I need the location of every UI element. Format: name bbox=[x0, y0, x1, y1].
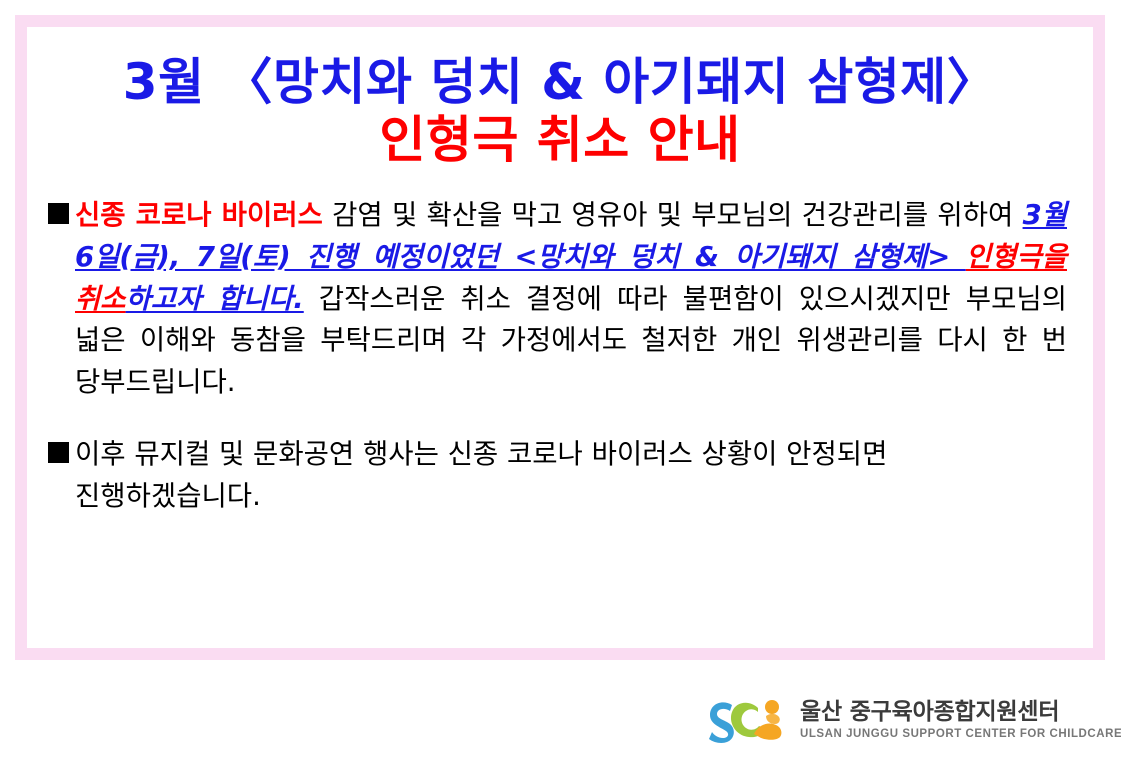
page-title: 3월 〈망치와 덩치 & 아기돼지 삼형제〉 인형극 취소 안내 bbox=[27, 27, 1093, 169]
logo-english-name: ULSAN JUNGGU SUPPORT CENTER FOR CHILDCAR… bbox=[800, 728, 1121, 740]
run-cancel-closing: 하고자 합니다. bbox=[126, 283, 304, 315]
announcement-paragraph-2: 이후 뮤지컬 및 문화공연 행사는 신종 코로나 바이러스 상황이 안정되면 진… bbox=[41, 434, 1067, 518]
poster-frame: 3월 〈망치와 덩치 & 아기돼지 삼형제〉 인형극 취소 안내 신종 코로나 … bbox=[15, 15, 1105, 660]
run-reason: 감염 및 확산을 막고 영유아 및 부모님의 건강관리를 위하여 bbox=[323, 199, 1023, 231]
logo-figure-shoulder bbox=[766, 714, 780, 724]
logo-figure-body bbox=[754, 723, 781, 739]
logo-s-shape bbox=[709, 702, 734, 743]
title-line-secondary: 인형극 취소 안내 bbox=[27, 111, 1093, 169]
logo-figure-head bbox=[765, 700, 779, 714]
announcement-paragraph-1: 신종 코로나 바이러스 감염 및 확산을 막고 영유아 및 부모님의 건강관리를… bbox=[41, 195, 1067, 404]
announcement-body: 신종 코로나 바이러스 감염 및 확산을 막고 영유아 및 부모님의 건강관리를… bbox=[27, 169, 1093, 518]
run-cancel-cause: 신종 코로나 바이러스 bbox=[75, 199, 323, 231]
paragraph-2-text: 이후 뮤지컬 및 문화공연 행사는 신종 코로나 바이러스 상황이 안정되면 진… bbox=[75, 434, 1067, 518]
organization-logo: 울산 중구육아종합지원센터 ULSAN JUNGGU SUPPORT CENTE… bbox=[706, 694, 1121, 746]
bullet-marker-icon bbox=[41, 434, 75, 468]
run-future-events: 이후 뮤지컬 및 문화공연 행사는 신종 코로나 바이러스 상황이 안정되면 진… bbox=[75, 438, 887, 512]
sc-childcare-logo-mark-icon bbox=[706, 694, 786, 746]
title-line-primary: 3월 〈망치와 덩치 & 아기돼지 삼형제〉 bbox=[27, 53, 1093, 111]
logo-text-block: 울산 중구육아종합지원센터 ULSAN JUNGGU SUPPORT CENTE… bbox=[800, 700, 1121, 741]
bullet-marker-icon bbox=[41, 195, 75, 229]
logo-korean-name: 울산 중구육아종합지원센터 bbox=[800, 700, 1121, 726]
paragraph-1-text: 신종 코로나 바이러스 감염 및 확산을 막고 영유아 및 부모님의 건강관리를… bbox=[75, 195, 1067, 404]
poster-content: 3월 〈망치와 덩치 & 아기돼지 삼형제〉 인형극 취소 안내 신종 코로나 … bbox=[27, 27, 1093, 648]
